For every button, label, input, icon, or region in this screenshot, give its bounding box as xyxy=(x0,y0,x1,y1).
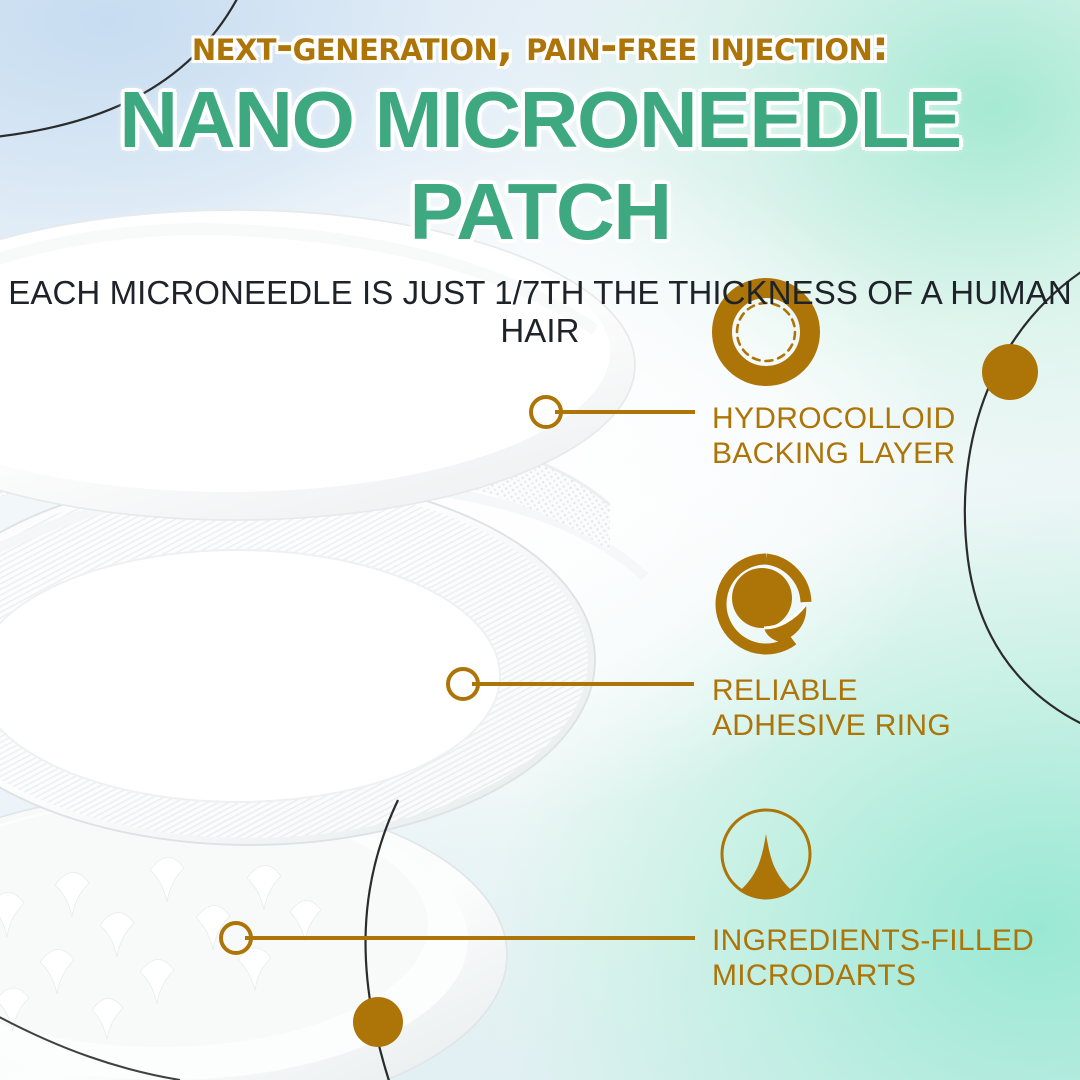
eyebrow-text: Next-Generation, Pain-Free Injection: xyxy=(0,0,1080,70)
marker-ring-adhesive[interactable] xyxy=(446,667,480,701)
header-block: Next-Generation, Pain-Free Injection: NA… xyxy=(0,0,1080,350)
leader-line-adhesive xyxy=(472,682,694,686)
marker-ring-microdarts[interactable] xyxy=(219,921,253,955)
subtitle-text: EACH MICRONEEDLE IS JUST 1/7TH THE THICK… xyxy=(0,258,1080,350)
infographic-poster: HYDROCOLLOID BACKING LAYER RELIABLE ADHE… xyxy=(0,0,1080,1080)
callout-label-microdarts: INGREDIENTS-FILLED MICRODARTS xyxy=(712,924,1042,994)
callout-label-adhesive: RELIABLE ADHESIVE RING xyxy=(712,674,1042,744)
callout-adhesive[interactable]: RELIABLE ADHESIVE RING xyxy=(712,550,1042,744)
marker-ring-hydrocolloid[interactable] xyxy=(529,395,563,429)
peeling-sticker-icon xyxy=(712,550,820,658)
leader-line-hydrocolloid xyxy=(555,410,695,414)
page-title: NANO MICRONEEDLE PATCH xyxy=(0,70,1080,258)
microdart-circle-icon xyxy=(712,800,820,908)
callout-label-hydrocolloid: HYDROCOLLOID BACKING LAYER xyxy=(712,402,1042,472)
leader-line-microdarts xyxy=(245,936,695,940)
callout-microdarts[interactable]: INGREDIENTS-FILLED MICRODARTS xyxy=(712,800,1042,994)
